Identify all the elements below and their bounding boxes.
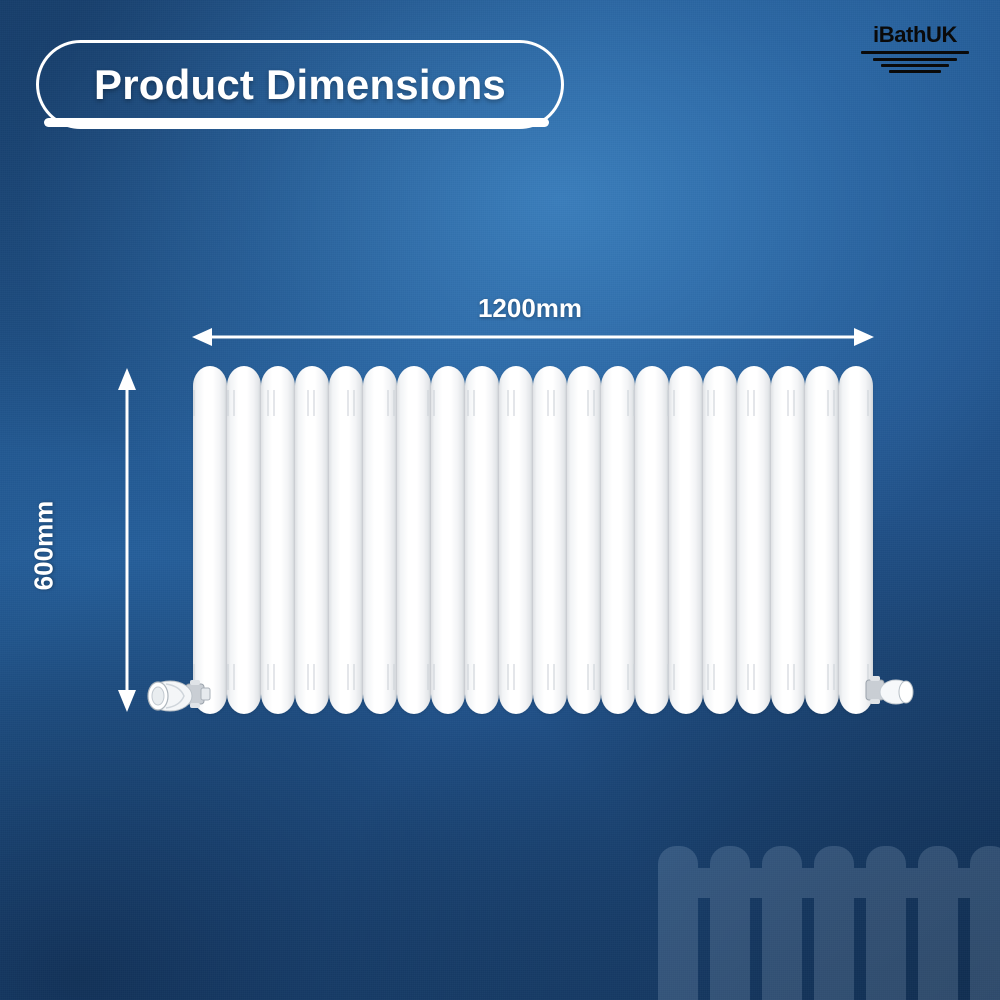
radiator-column <box>771 366 805 714</box>
radiator-column <box>703 366 737 714</box>
radiator-column <box>431 366 465 714</box>
watermark-column <box>866 846 906 1000</box>
radiator-column <box>669 366 703 714</box>
radiator-column <box>737 366 771 714</box>
radiator-column <box>329 366 363 714</box>
watermark-column <box>710 846 750 1000</box>
radiator-column <box>397 366 431 714</box>
radiator-column <box>193 366 227 714</box>
thermostatic-valve-left-icon <box>146 666 212 722</box>
brand-logo-text: iBathUK <box>855 22 975 48</box>
radiator-column <box>261 366 295 714</box>
height-dimension-arrow-icon <box>116 364 138 716</box>
page-title: Product Dimensions <box>36 40 564 129</box>
radiator-column <box>601 366 635 714</box>
radiator-watermark-graphic <box>658 846 1000 1000</box>
radiator-column <box>635 366 669 714</box>
watermark-column <box>918 846 958 1000</box>
watermark-column <box>762 846 802 1000</box>
logo-underline-bar-3 <box>881 64 949 67</box>
height-dimension-label: 600mm <box>29 466 60 626</box>
watermark-column <box>658 846 698 1000</box>
brand-logo: iBathUK <box>855 22 975 74</box>
logo-underline-bar-2 <box>873 58 957 61</box>
radiator-column <box>363 366 397 714</box>
radiator-column <box>805 366 839 714</box>
radiator-column <box>295 366 329 714</box>
radiator-product-image <box>193 366 873 714</box>
radiator-column <box>567 366 601 714</box>
lockshield-valve-right-icon <box>864 668 920 714</box>
watermark-column <box>970 846 1000 1000</box>
watermark-column <box>814 846 854 1000</box>
width-dimension-label: 1200mm <box>400 293 660 324</box>
product-dimensions-canvas: Product Dimensions iBathUK 1200mm 600mm <box>0 0 1000 1000</box>
radiator-column <box>499 366 533 714</box>
radiator-column <box>465 366 499 714</box>
logo-underline-bar-4 <box>889 70 941 73</box>
radiator-column <box>839 366 873 714</box>
radiator-column <box>533 366 567 714</box>
logo-underline-bar-1 <box>861 51 969 54</box>
radiator-column <box>227 366 261 714</box>
width-dimension-arrow-icon <box>186 326 880 348</box>
